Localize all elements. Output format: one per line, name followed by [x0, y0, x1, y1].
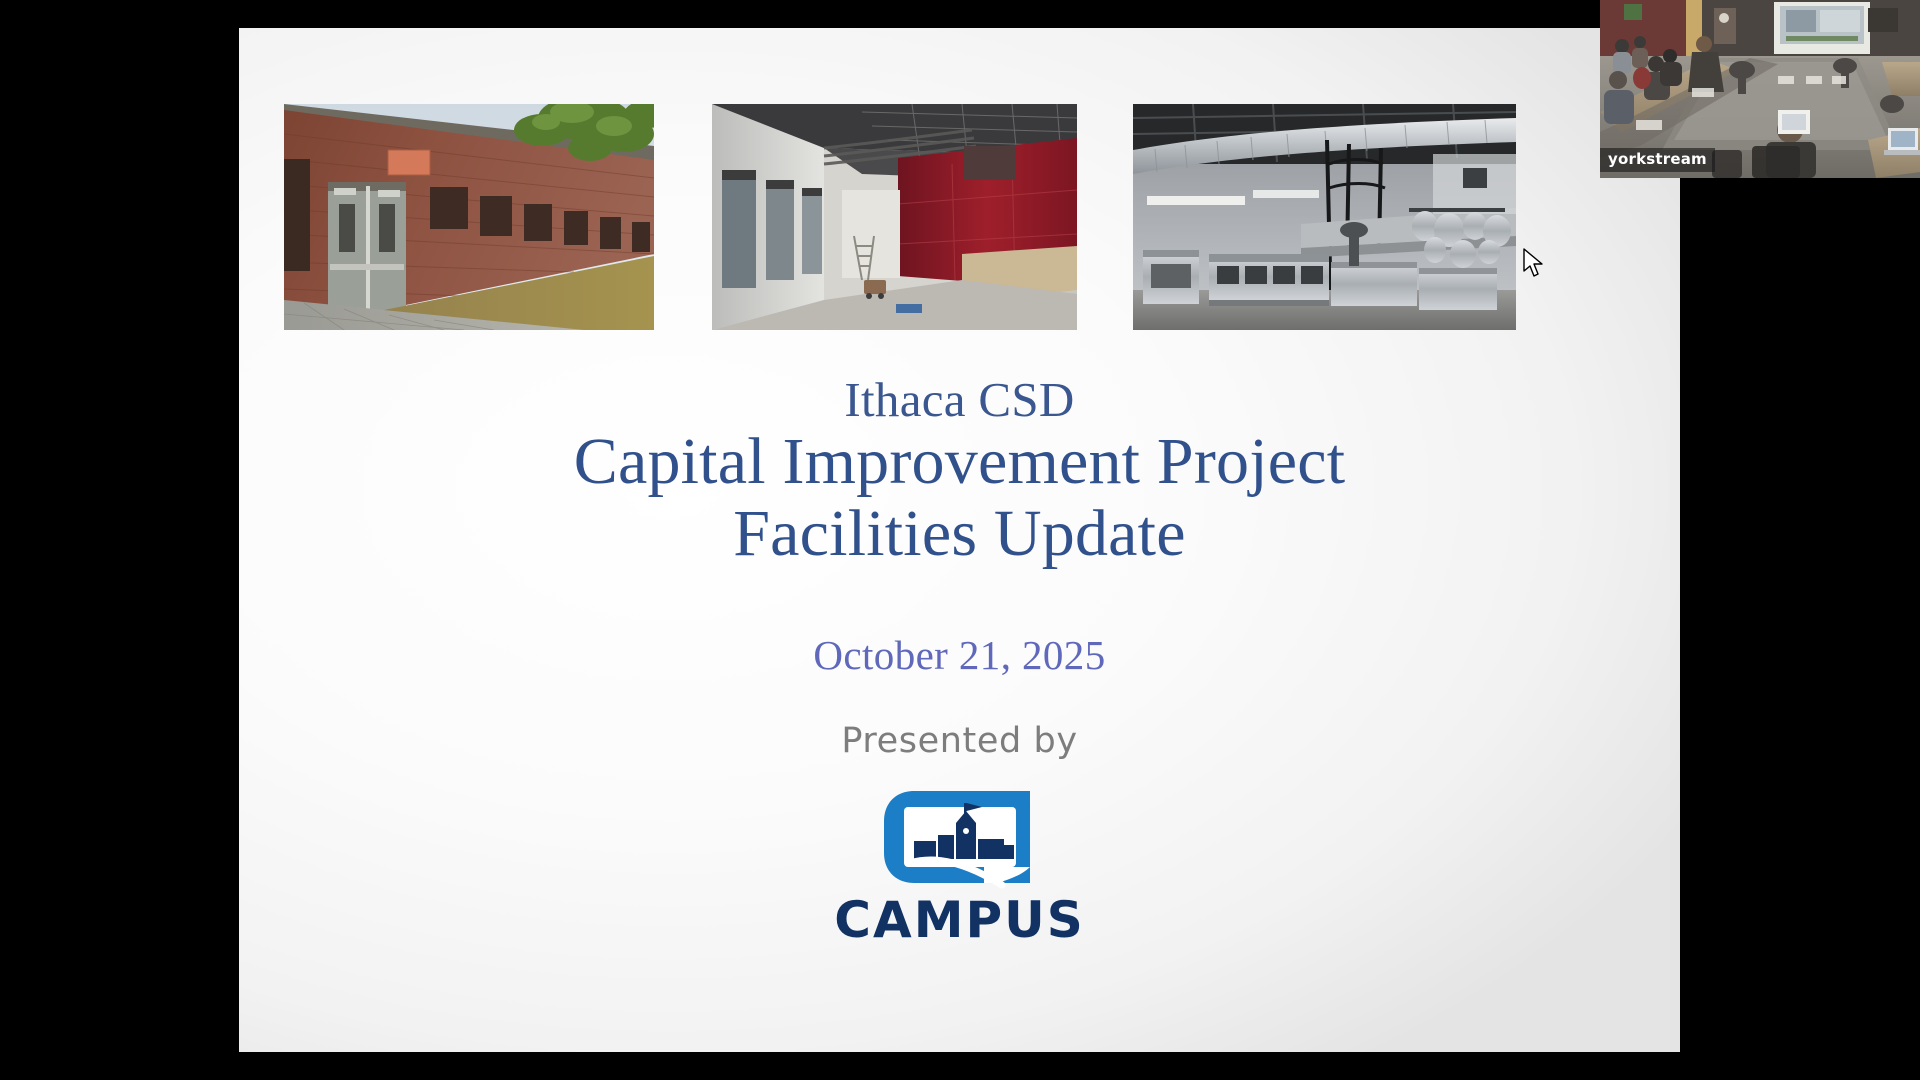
presentation-slide[interactable]: Ithaca CSD Capital Improvement Project F…	[239, 28, 1680, 1052]
page-title-organization: Ithaca CSD	[239, 373, 1680, 428]
photo-corridor-under-construction	[712, 104, 1077, 330]
photo-commercial-kitchen	[1133, 104, 1516, 330]
slide-title-block: Ithaca CSD Capital Improvement Project F…	[239, 373, 1680, 571]
page-title-subtitle: Facilities Update	[239, 498, 1680, 571]
slide-date: October 21, 2025	[239, 631, 1680, 679]
campus-logo-mark	[880, 783, 1040, 891]
photo-brick-building-exterior	[284, 104, 654, 330]
webcam-thumbnail[interactable]: yorkstream	[1600, 0, 1920, 178]
photo-row	[239, 104, 1680, 330]
page-title-main: Capital Improvement Project	[239, 426, 1680, 499]
stream-name-label: yorkstream	[1600, 148, 1715, 172]
screen-root: Ithaca CSD Capital Improvement Project F…	[0, 0, 1920, 1080]
campus-logo: CAMPUS	[830, 783, 1090, 983]
presented-by-label: Presented by	[239, 721, 1680, 761]
campus-logo-wordmark: CAMPUS	[830, 895, 1090, 945]
